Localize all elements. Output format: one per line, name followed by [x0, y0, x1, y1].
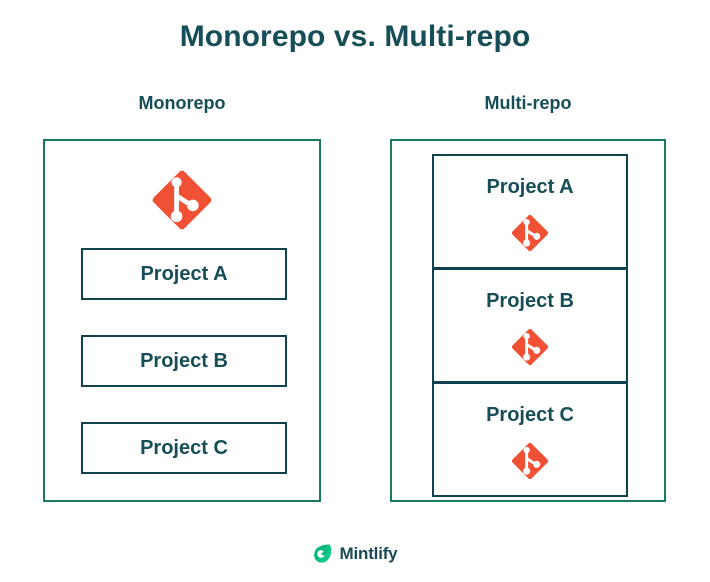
page-title: Monorepo vs. Multi-repo [0, 20, 710, 54]
project-box[interactable]: Project B [81, 335, 287, 387]
brand-footer: Mintlify [0, 543, 710, 564]
project-repo-box[interactable]: Project B [432, 268, 628, 383]
project-label: Project B [140, 350, 228, 373]
mintlify-leaf-icon [313, 543, 333, 564]
project-label: Project C [140, 437, 228, 460]
project-box[interactable]: Project C [81, 422, 287, 474]
project-repo-box[interactable]: Project A [432, 154, 628, 269]
project-label: Project B [434, 290, 626, 313]
project-box[interactable]: Project A [81, 248, 287, 300]
git-logo-icon [509, 212, 551, 254]
git-logo-icon [509, 440, 551, 482]
column-heading-monorepo: Monorepo [43, 93, 321, 114]
column-heading-multirepo: Multi-repo [390, 93, 666, 114]
diagram-canvas: Monorepo vs. Multi-repo Monorepo Multi-r… [0, 0, 710, 582]
multirepo-panel: Project A Project B [390, 139, 666, 502]
project-repo-box[interactable]: Project C [432, 382, 628, 497]
git-logo-icon [509, 326, 551, 368]
brand-name: Mintlify [340, 544, 398, 564]
project-label: Project A [140, 263, 227, 286]
monorepo-panel: Project A Project B Project C [43, 139, 321, 502]
project-label: Project A [434, 176, 626, 199]
git-logo-icon [148, 166, 216, 234]
project-label: Project C [434, 404, 626, 427]
